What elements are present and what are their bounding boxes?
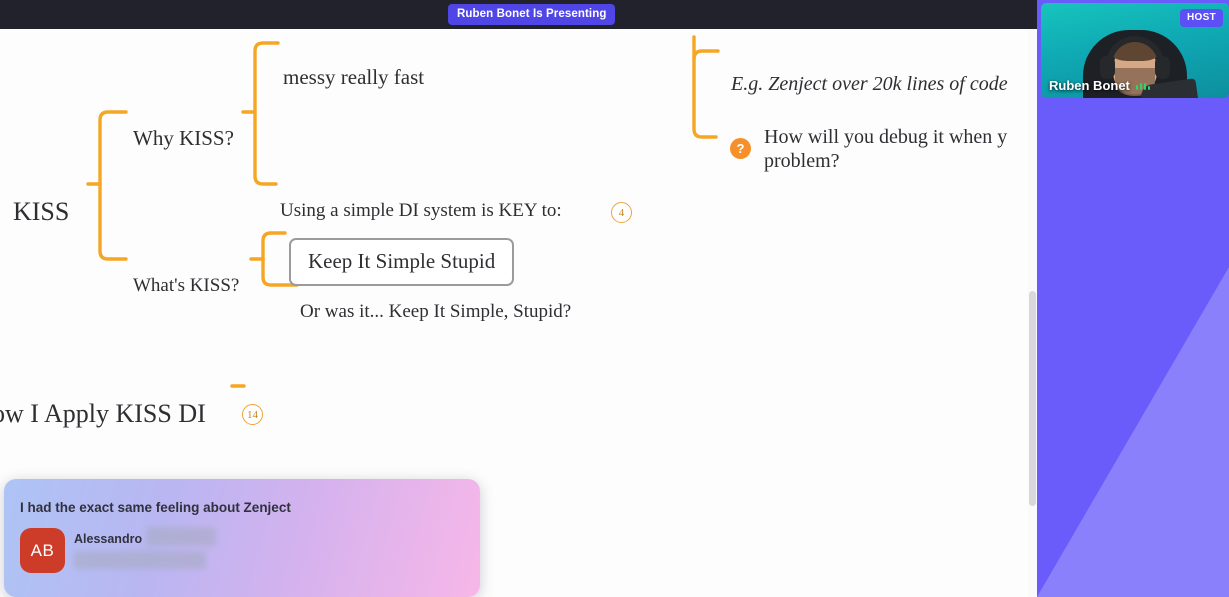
microphone-level-icon bbox=[1136, 82, 1151, 90]
host-badge: HOST bbox=[1180, 9, 1223, 27]
mindmap-node-eg-zenject[interactable]: E.g. Zenject over 20k lines of code bbox=[731, 73, 1008, 97]
mindmap-node-using-simple-di[interactable]: Using a simple DI system is KEY to: bbox=[280, 200, 562, 222]
mindmap-node-whats-kiss[interactable]: What's KISS? bbox=[133, 275, 239, 297]
mindmap-node-messy-really-fast[interactable]: messy really fast bbox=[283, 65, 424, 90]
vertical-scrollbar-thumb[interactable] bbox=[1029, 291, 1036, 506]
mindmap-node-why-kiss[interactable]: Why KISS? bbox=[133, 126, 234, 151]
presenting-status-badge: Ruben Bonet Is Presenting bbox=[448, 4, 615, 25]
chat-toast-notification[interactable]: I had the exact same feeling about Zenje… bbox=[4, 479, 480, 597]
participant-name-plate: Ruben Bonet bbox=[1049, 78, 1150, 93]
mindmap-collapsed-count-badge-14[interactable]: 14 bbox=[242, 404, 263, 425]
question-mark-icon: ? bbox=[730, 138, 751, 159]
mindmap-node-kiss-root[interactable]: KISS bbox=[13, 197, 69, 228]
mindmap-node-how-will-you-debug[interactable]: How will you debug it when y problem? bbox=[764, 125, 1037, 174]
screen-share-window: Ruben Bonet Is Presenting bbox=[0, 0, 1229, 597]
redacted-text-block bbox=[146, 527, 216, 546]
presenting-topbar: Ruben Bonet Is Presenting bbox=[0, 0, 1037, 29]
decorative-diagonal-shape bbox=[1037, 267, 1229, 597]
redacted-text-block bbox=[74, 551, 206, 569]
mindmap-collapsed-count-badge-4[interactable]: 4 bbox=[611, 202, 632, 223]
participant-video-rail: HOST Ruben Bonet bbox=[1037, 0, 1229, 597]
vertical-scrollbar-track[interactable] bbox=[1028, 29, 1037, 597]
headphone-earcup-right bbox=[1155, 56, 1170, 79]
chat-author-name: Alessandro bbox=[74, 532, 142, 546]
headphone-earcup-left bbox=[1100, 56, 1115, 79]
mindmap-node-or-was-it[interactable]: Or was it... Keep It Simple, Stupid? bbox=[300, 301, 571, 323]
chat-message-text: I had the exact same feeling about Zenje… bbox=[20, 500, 291, 515]
avatar: AB bbox=[20, 528, 65, 573]
participant-name: Ruben Bonet bbox=[1049, 78, 1130, 93]
mindmap-node-how-i-apply-kiss-di[interactable]: ow I Apply KISS DI bbox=[0, 399, 206, 430]
participant-video-tile[interactable]: HOST Ruben Bonet bbox=[1041, 3, 1229, 98]
mindmap-node-keep-it-simple-stupid[interactable]: Keep It Simple Stupid bbox=[289, 238, 514, 286]
